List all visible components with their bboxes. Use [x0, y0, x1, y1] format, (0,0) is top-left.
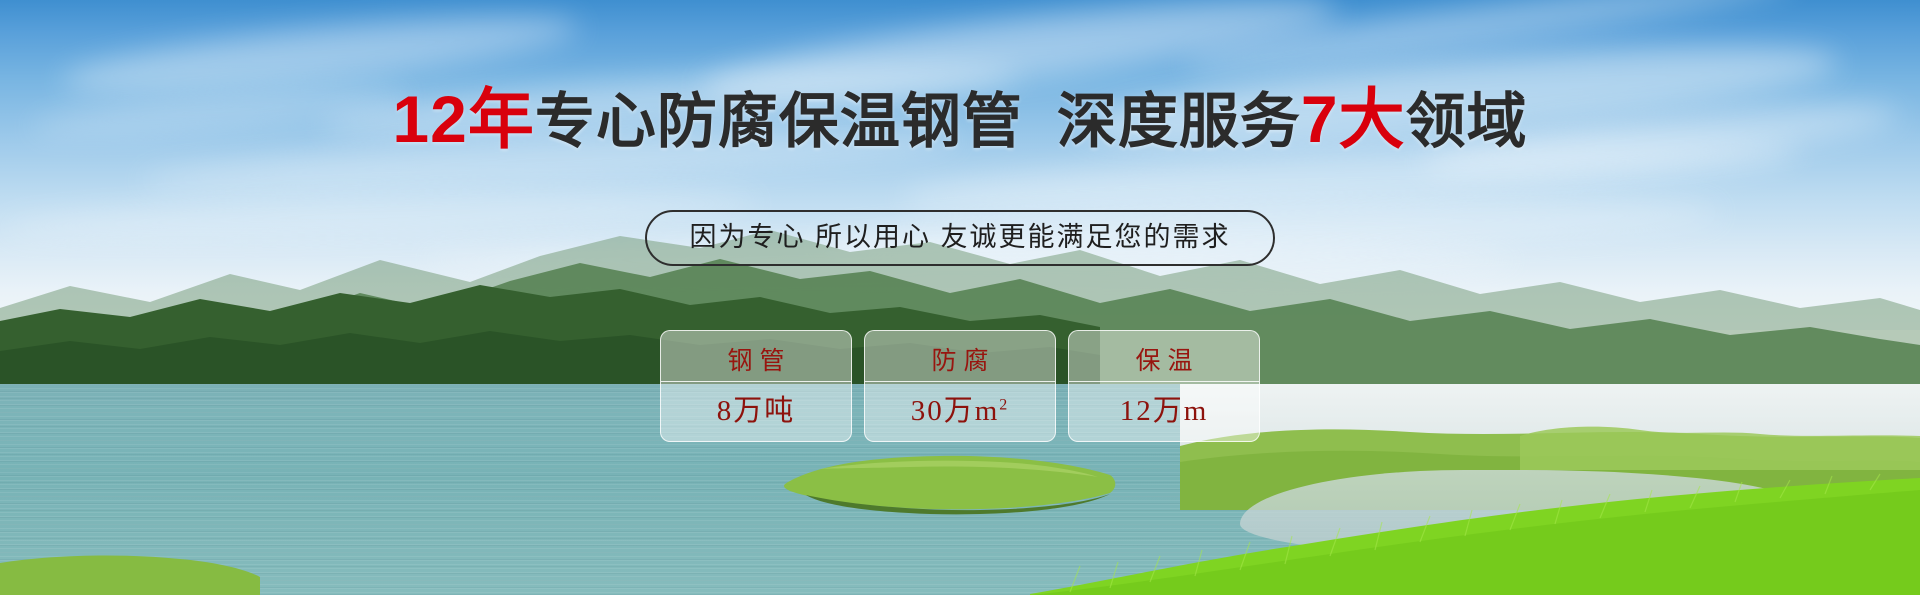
stat-card-anticorrosion[interactable]: 防腐 30万m2: [864, 330, 1056, 442]
stat-card-value: 30万m2: [911, 382, 1010, 440]
stat-card-value: 12万m: [1120, 382, 1209, 440]
stat-card-steel-pipe[interactable]: 钢管 8万吨: [660, 330, 852, 442]
stat-value-text: 8万吨: [717, 395, 796, 427]
stat-card-insulation[interactable]: 保温 12万m: [1068, 330, 1260, 442]
left-shore-grass: [0, 545, 260, 595]
stat-value-superscript: 2: [999, 396, 1009, 413]
stat-value-text: 30万m: [911, 395, 1000, 427]
headline-seven: 7大: [1301, 82, 1406, 156]
headline-focus: 专心防腐保温钢管: [535, 88, 1023, 155]
grass-blade-texture: [1030, 470, 1920, 595]
stat-card-title: 钢管: [720, 341, 791, 381]
headline-service: 深度服务: [1057, 88, 1301, 155]
stat-card-title: 防腐: [924, 341, 995, 381]
subtitle-pill: 因为专心 所以用心 友诚更能满足您的需求: [645, 210, 1274, 266]
subtitle-container: 因为专心 所以用心 友诚更能满足您的需求: [0, 210, 1920, 266]
banner-headline: 12年专心防腐保温钢管深度服务7大领域: [0, 88, 1920, 153]
hero-banner: 12年专心防腐保温钢管深度服务7大领域 因为专心 所以用心 友诚更能满足您的需求…: [0, 0, 1920, 595]
stat-card-group: 钢管 8万吨 防腐 30万m2 保温 12万m: [660, 330, 1260, 440]
headline-fields: 领域: [1406, 88, 1528, 155]
stat-card-value: 8万吨: [717, 382, 796, 440]
headline-years: 12年: [392, 82, 534, 156]
stat-card-title: 保温: [1128, 341, 1199, 381]
stat-value-text: 12万m: [1120, 395, 1209, 427]
